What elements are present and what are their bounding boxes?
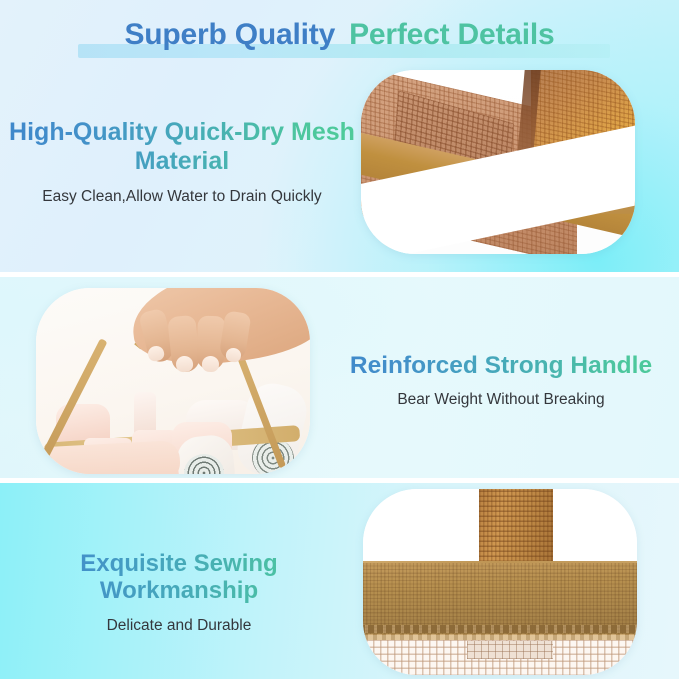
section-1-subheading: Easy Clean,Allow Water to Drain Quickly [8, 188, 356, 207]
section-3-heading: Exquisite Sewing Workmanship [4, 550, 354, 605]
page-title-part-b: Perfect Details [349, 18, 554, 51]
section-3-subheading: Delicate and Durable [4, 617, 354, 636]
section-1-heading: High-Quality Quick-Dry Mesh Material [8, 118, 356, 175]
page-title-part-a: Superb Quality [124, 18, 335, 51]
sewing-workmanship-photo [363, 489, 637, 675]
stitch-line [363, 625, 637, 633]
section-3-photo-card [363, 489, 637, 675]
section-2-text-block: Reinforced Strong Handle Bear Weight Wit… [326, 352, 676, 410]
section-2-heading: Reinforced Strong Handle [326, 352, 676, 380]
mesh-material-photo [361, 70, 635, 254]
fingernail [202, 356, 220, 373]
handle-strength-photo [36, 288, 310, 474]
section-1-photo-card [361, 70, 635, 254]
section-1-text-block: High-Quality Quick-Dry Mesh Material Eas… [8, 118, 356, 207]
section-2-subheading: Bear Weight Without Breaking [326, 391, 676, 410]
webbing-strap [479, 489, 553, 567]
mesh-fabric-shadow [467, 641, 553, 659]
section-2-photo-card [36, 288, 310, 474]
product-infographic: Superb QualityPerfect Details High-Quali… [0, 0, 679, 679]
page-title: Superb QualityPerfect Details [0, 18, 679, 52]
section-3-text-block: Exquisite Sewing Workmanship Delicate an… [4, 550, 354, 635]
